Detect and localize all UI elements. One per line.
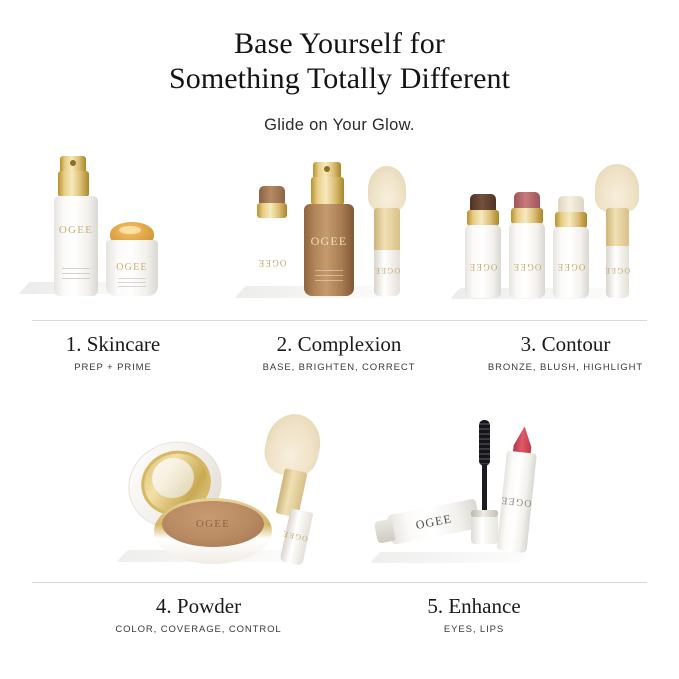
brand-label: OGEE <box>254 258 290 268</box>
captions-row-1: 1. Skincare PREP + PRIME 2. Complexion B… <box>0 332 679 373</box>
step-title: 4. Powder <box>58 594 339 619</box>
scene-enhance: OGEE OGEE <box>375 412 580 580</box>
divider-bottom <box>32 582 647 583</box>
pump-nozzle-dot <box>70 160 76 166</box>
pump-collar <box>311 177 344 205</box>
blush-stick: OGEE <box>509 192 545 298</box>
bottle-body-foundation: OGEE <box>304 204 354 296</box>
step-complexion: 2. Complexion BASE, BRIGHTEN, CORRECT <box>226 332 452 373</box>
headline-line-2: Something Totally Different <box>0 61 679 96</box>
mascara-cap-rim <box>471 510 498 517</box>
surface-shadow <box>370 552 530 563</box>
highlighter-product <box>558 196 584 213</box>
bottle-fine-print <box>315 270 343 284</box>
stick-collar <box>511 208 543 224</box>
balm-swirl-highlight <box>119 226 141 234</box>
step-powder: 4. Powder COLOR, COVERAGE, CONTROL <box>0 594 339 635</box>
brand-label: OGEE <box>304 234 354 249</box>
step-subtitle: PREP + PRIME <box>0 362 226 373</box>
foundation-bottle: OGEE <box>304 162 354 296</box>
brand-label: OGEE <box>595 266 639 275</box>
brand-label: OGEE <box>162 518 264 530</box>
brush-ferrule <box>606 208 629 248</box>
pump-collar <box>58 171 89 197</box>
step-enhance: 5. Enhance EYES, LIPS <box>339 594 679 635</box>
step-contour: 3. Contour BRONZE, BLUSH, HIGHLIGHT <box>452 332 679 373</box>
powder-brush: OGEE <box>260 414 324 564</box>
product-lineup-page: Base Yourself for Something Totally Diff… <box>0 0 679 679</box>
jar-fine-print <box>118 278 146 287</box>
brush-bristles <box>368 166 406 212</box>
bronzer-stick: OGEE <box>465 194 501 298</box>
step-title: 5. Enhance <box>339 594 609 619</box>
step-title: 3. Contour <box>452 332 679 357</box>
page-title: Base Yourself for Something Totally Diff… <box>0 26 679 96</box>
captions-row-2: 4. Powder COLOR, COVERAGE, CONTROL 5. En… <box>0 594 679 635</box>
powder-compact: OGEE <box>128 442 278 564</box>
stick-collar <box>467 210 499 226</box>
serum-pump-bottle: OGEE <box>54 156 98 296</box>
brand-label: OGEE <box>553 262 589 272</box>
brush-bristles <box>595 164 639 212</box>
step-title: 1. Skincare <box>0 332 226 357</box>
concealer-product <box>259 186 285 204</box>
mascara-tube: OGEE <box>373 498 481 547</box>
step-subtitle: EYES, LIPS <box>339 624 609 635</box>
bottle-body: OGEE <box>54 196 98 296</box>
stick-body <box>254 217 290 296</box>
pump-nozzle-dot <box>324 166 330 172</box>
mascara-wand-stem <box>482 464 487 516</box>
step-title: 2. Complexion <box>226 332 452 357</box>
brand-label: OGEE <box>366 266 408 275</box>
step-subtitle: COLOR, COVERAGE, CONTROL <box>58 624 339 635</box>
step-subtitle: BASE, BRIGHTEN, CORRECT <box>226 362 452 373</box>
stick-collar <box>555 212 587 228</box>
scene-skincare: OGEE OGEE <box>22 150 227 315</box>
lip-crayon: OGEE <box>496 425 539 553</box>
scene-powder: OGEE OGEE <box>120 412 335 580</box>
step-skincare: 1. Skincare PREP + PRIME <box>0 332 226 373</box>
brand-label: OGEE <box>54 224 98 236</box>
mascara-brush-head <box>479 420 490 466</box>
scene-contour: OGEE OGEE OGEE OGEE <box>455 150 665 315</box>
foundation-brush: OGEE <box>366 166 408 296</box>
headline-line-1: Base Yourself for <box>0 26 679 61</box>
stick-body <box>509 223 545 298</box>
blush-product <box>514 192 540 209</box>
balm-jar: OGEE <box>106 222 158 296</box>
jar-body: OGEE <box>106 240 158 296</box>
scene-complexion: OGEE OGEE OGEE <box>240 150 445 315</box>
bronzer-product <box>470 194 496 211</box>
page-tagline: Glide on Your Glow. <box>0 116 679 135</box>
brand-label: OGEE <box>106 262 158 273</box>
highlighter-stick: OGEE <box>553 196 589 298</box>
page-header: Base Yourself for Something Totally Diff… <box>0 26 679 135</box>
bottle-fine-print <box>62 268 90 282</box>
brand-label: OGEE <box>509 262 545 272</box>
brand-label: OGEE <box>465 262 501 272</box>
mascara-wand <box>467 420 501 544</box>
contour-brush: OGEE <box>595 164 639 298</box>
step-subtitle: BRONZE, BLUSH, HIGHLIGHT <box>452 362 679 373</box>
concealer-stick: OGEE <box>254 186 290 296</box>
brush-ferrule <box>374 208 400 252</box>
divider-top <box>32 320 647 321</box>
stick-collar <box>257 203 287 218</box>
